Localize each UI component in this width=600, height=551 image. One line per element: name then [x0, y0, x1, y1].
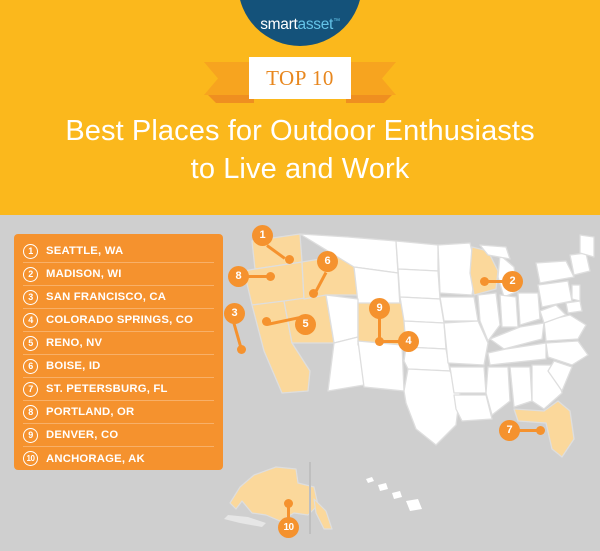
- city-label: RENO, NV: [46, 337, 102, 349]
- marker-pin: 9: [369, 298, 390, 319]
- marker-pin: 5: [295, 314, 316, 335]
- page-title-line-2: to Live and Work: [0, 150, 600, 188]
- smartasset-logo[interactable]: smartasset™: [238, 0, 362, 46]
- list-item[interactable]: 3 SAN FRANCISCO, CA: [23, 286, 214, 309]
- state-nj: [572, 285, 580, 301]
- marker-dot: [309, 289, 318, 298]
- state-nm: [358, 341, 404, 391]
- state-ne-region: [570, 253, 590, 275]
- infographic-root: smartasset™ TOP 10 Best Places for Outdo…: [0, 0, 600, 551]
- city-label: COLORADO SPRINGS, CO: [46, 314, 193, 326]
- rank-badge: 9: [23, 428, 38, 443]
- marker-dot: [262, 317, 271, 326]
- state-al: [510, 367, 532, 407]
- list-item[interactable]: 4 COLORADO SPRINGS, CO: [23, 309, 214, 332]
- state-or: [244, 262, 304, 305]
- state-ia: [440, 297, 478, 321]
- city-label: PORTLAND, OR: [46, 406, 134, 418]
- trademark-icon: ™: [333, 18, 340, 25]
- city-label: MADISON, WI: [46, 268, 122, 280]
- state-la: [454, 395, 492, 421]
- inset-divider: [309, 462, 311, 534]
- ribbon-label: TOP 10: [266, 66, 334, 91]
- state-mo: [444, 321, 488, 365]
- list-item[interactable]: 10 ANCHORAGE, AK: [23, 447, 214, 470]
- city-label: DENVER, CO: [46, 429, 118, 441]
- us-map-svg: [222, 215, 600, 551]
- state-in: [500, 295, 518, 327]
- marker-pin: 8: [228, 266, 249, 287]
- city-label: ANCHORAGE, AK: [46, 453, 145, 465]
- state-ny: [536, 261, 574, 283]
- logo-asset-text: asset: [298, 16, 334, 33]
- marker-pin: 1: [252, 225, 273, 246]
- top-ten-ribbon: TOP 10: [204, 62, 396, 106]
- list-item[interactable]: 8 PORTLAND, OR: [23, 401, 214, 424]
- marker-pin: 2: [502, 271, 523, 292]
- logo-wordmark: smartasset™: [260, 16, 340, 34]
- marker-dot: [284, 499, 293, 508]
- marker-pin: 10: [278, 517, 299, 538]
- city-label: BOISE, ID: [46, 360, 101, 372]
- state-nd: [396, 241, 438, 271]
- ribbon-fold-left: [208, 95, 254, 103]
- state-ak-aleutians: [224, 515, 266, 527]
- list-item[interactable]: 5 RENO, NV: [23, 332, 214, 355]
- state-sd: [398, 269, 440, 299]
- state-md: [566, 301, 582, 313]
- list-item[interactable]: 1 SEATTLE, WA: [23, 240, 214, 263]
- city-label: SAN FRANCISCO, CA: [46, 291, 166, 303]
- rank-badge: 2: [23, 267, 38, 282]
- page-title: Best Places for Outdoor Enthusiasts to L…: [0, 112, 600, 189]
- rank-badge: 6: [23, 359, 38, 374]
- city-label: ST. PETERSBURG, FL: [46, 383, 168, 395]
- marker-dot: [237, 345, 246, 354]
- state-ne: [400, 297, 444, 323]
- state-me: [580, 235, 594, 257]
- state-ar: [450, 367, 486, 393]
- state-oh: [518, 293, 540, 325]
- marker-dot: [266, 272, 275, 281]
- list-item[interactable]: 9 DENVER, CO: [23, 424, 214, 447]
- marker-pin: 3: [224, 303, 245, 324]
- rank-badge: 4: [23, 313, 38, 328]
- state-ms: [486, 367, 510, 415]
- list-item[interactable]: 6 BOISE, ID: [23, 355, 214, 378]
- rank-badge: 5: [23, 336, 38, 351]
- logo-smart-text: smart: [260, 16, 297, 33]
- marker-pin: 7: [499, 420, 520, 441]
- state-nc: [546, 341, 588, 365]
- ribbon-label-box: TOP 10: [249, 57, 351, 99]
- top-ten-list-panel: 1 SEATTLE, WA 2 MADISON, WI 3 SAN FRANCI…: [14, 234, 223, 470]
- rank-badge: 7: [23, 382, 38, 397]
- marker-dot: [480, 277, 489, 286]
- city-label: SEATTLE, WA: [46, 245, 123, 257]
- list-item[interactable]: 7 ST. PETERSBURG, FL: [23, 378, 214, 401]
- rank-badge: 1: [23, 244, 38, 259]
- rank-badge: 3: [23, 290, 38, 305]
- state-hi: [366, 477, 422, 511]
- marker-pin: 4: [398, 331, 419, 352]
- marker-dot: [536, 426, 545, 435]
- rank-badge: 10: [23, 451, 38, 466]
- page-title-line-1: Best Places for Outdoor Enthusiasts: [0, 112, 600, 150]
- rank-badge: 8: [23, 405, 38, 420]
- us-map: 1 8 3 6 5 9: [222, 215, 600, 551]
- state-ak-panhandle: [314, 499, 332, 529]
- state-tn: [488, 343, 546, 365]
- state-ak: [230, 467, 318, 521]
- marker-dot: [285, 255, 294, 264]
- list-item[interactable]: 2 MADISON, WI: [23, 263, 214, 286]
- marker-pin: 6: [317, 251, 338, 272]
- ribbon-fold-right: [346, 95, 392, 103]
- header-banner: smartasset™ TOP 10 Best Places for Outdo…: [0, 0, 600, 215]
